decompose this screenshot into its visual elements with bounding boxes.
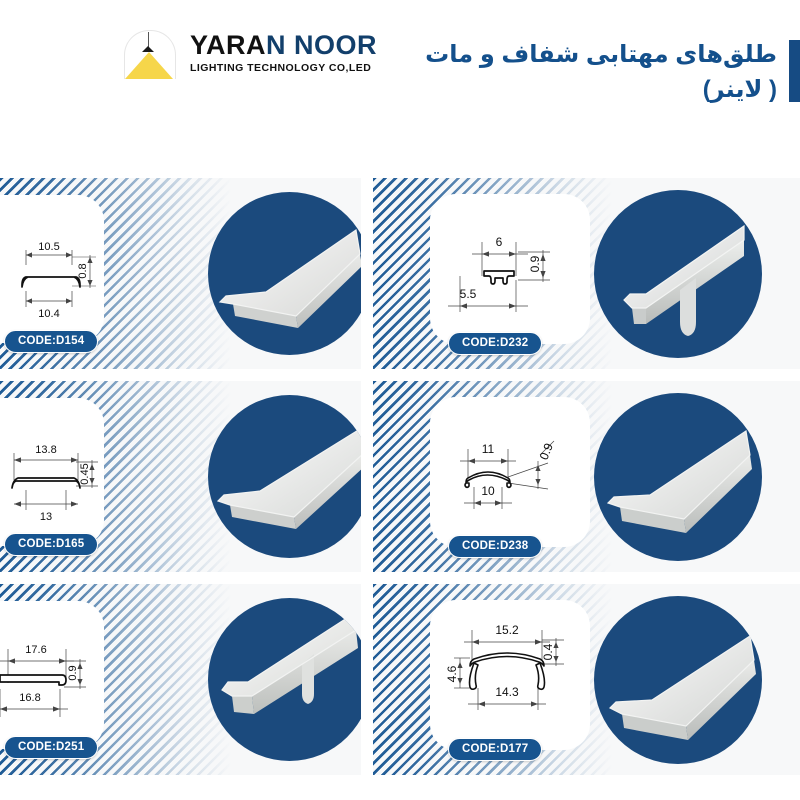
catalog-page: YARAN NOOR LIGHTING TECHNOLOGY CO,LED طل… [0,0,800,800]
svg-text:13.8: 13.8 [35,444,56,456]
product-code-badge: CODE:D238 [448,535,542,558]
page-title-line-1: طلق‌های مهتابی شفاف و مات [425,38,777,73]
brand-tagline: LIGHTING TECHNOLOGY CO,LED [190,63,377,74]
brand-name-part2: N NOOR [266,30,377,60]
svg-text:0.8: 0.8 [77,263,89,278]
page-header: YARAN NOOR LIGHTING TECHNOLOGY CO,LED طل… [0,0,800,178]
svg-text:0.9: 0.9 [67,665,79,680]
page-title-lines: طلق‌های مهتابی شفاف و مات ( لاینر) [425,38,789,108]
svg-text:6: 6 [496,235,503,249]
product-card-d232[interactable]: 6 5.5 0.9 CODE:D232 [373,178,800,369]
product-render-d232 [594,190,762,358]
technical-drawing-d238: 11 10 0.9 [430,397,590,547]
svg-text:10: 10 [481,484,495,498]
pendant-lamp-icon [118,22,180,84]
svg-text:5.5: 5.5 [460,287,477,301]
title-accent-bar [789,40,800,102]
product-row: 17.6 16.8 0.9 CODE:D251 [0,584,800,775]
product-grid: 10.5 10.4 0.8 CODE:D154 [0,178,800,776]
product-render-d177 [594,596,762,764]
brand-text: YARAN NOOR LIGHTING TECHNOLOGY CO,LED [190,32,377,74]
svg-text:0.9: 0.9 [537,441,556,462]
brand-name-part1: YARA [190,30,266,60]
bottom-white-band [0,776,800,800]
product-card-d177[interactable]: 15.2 14.3 0.4 4.6 CODE:D177 [373,584,800,775]
brand-name: YARAN NOOR [190,32,377,59]
product-render-d251 [208,598,361,761]
technical-drawing-d251: 17.6 16.8 0.9 [0,601,104,749]
svg-text:15.2: 15.2 [495,623,519,637]
technical-drawing-d154: 10.5 10.4 0.8 [0,195,104,343]
product-card-d238[interactable]: 11 10 0.9 CODE:D238 [373,381,800,572]
product-code-badge: CODE:D251 [4,736,98,759]
svg-text:14.3: 14.3 [495,685,519,699]
svg-text:10.4: 10.4 [38,308,59,320]
page-title: طلق‌های مهتابی شفاف و مات ( لاینر) [425,38,800,108]
product-card-d165[interactable]: 13.8 13 0.45 CODE:D165 [0,381,361,572]
product-code-badge: CODE:D165 [4,533,98,556]
product-code-badge: CODE:D232 [448,332,542,355]
product-render-d154 [208,192,361,355]
brand-logo: YARAN NOOR LIGHTING TECHNOLOGY CO,LED [118,22,377,84]
svg-text:10.5: 10.5 [38,241,59,253]
svg-text:0.45: 0.45 [79,463,91,484]
product-row: 10.5 10.4 0.8 CODE:D154 [0,178,800,369]
product-render-d165 [208,395,361,558]
product-code-badge: CODE:D177 [448,738,542,761]
product-row: 13.8 13 0.45 CODE:D165 [0,381,800,572]
product-code-badge: CODE:D154 [4,330,98,353]
lamp-beam-shape [125,52,173,79]
svg-text:16.8: 16.8 [19,692,40,704]
page-title-line-2: ( لاینر) [425,73,777,108]
svg-text:17.6: 17.6 [25,644,46,656]
technical-drawing-d165: 13.8 13 0.45 [0,398,104,546]
svg-text:0.9: 0.9 [528,255,542,272]
svg-text:4.6: 4.6 [445,665,459,682]
technical-drawing-d232: 6 5.5 0.9 [430,194,590,344]
product-render-d238 [594,393,762,561]
product-card-d154[interactable]: 10.5 10.4 0.8 CODE:D154 [0,178,361,369]
svg-text:13: 13 [40,511,52,523]
svg-text:11: 11 [482,442,495,456]
svg-text:0.4: 0.4 [541,643,555,660]
product-card-d251[interactable]: 17.6 16.8 0.9 CODE:D251 [0,584,361,775]
technical-drawing-d177: 15.2 14.3 0.4 4.6 [430,600,590,750]
